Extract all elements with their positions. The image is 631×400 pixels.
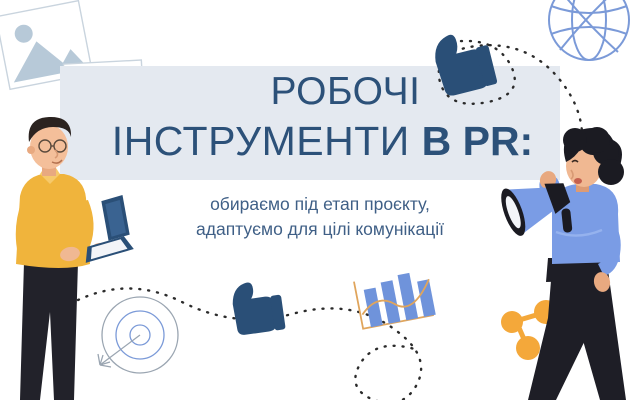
target-icon (98, 297, 178, 373)
bar-chart-icon (354, 267, 436, 328)
page-title-line-2-bold: В PR: (422, 118, 534, 164)
thumbs-up-icon (230, 278, 286, 336)
page-title-line-2: ІНСТРУМЕНТИ В PR: (0, 118, 631, 165)
page-subtitle-line-1: обираємо під етап проєкту, (120, 192, 520, 217)
page-subtitle-line-2: адаптуємо для цілі комунікації (120, 217, 520, 242)
dashed-path (78, 288, 421, 400)
page-title-line-2-regular: ІНСТРУМЕНТИ (112, 118, 422, 164)
page-title-line-1: РОБОЧІ (0, 70, 631, 114)
page-subtitle: обираємо під етап проєкту, адаптуємо для… (120, 192, 520, 242)
globe-icon (549, 0, 629, 60)
share-network-icon (501, 300, 558, 360)
poster-canvas: РОБОЧІ ІНСТРУМЕНТИ В PR: обираємо під ет… (0, 0, 631, 400)
